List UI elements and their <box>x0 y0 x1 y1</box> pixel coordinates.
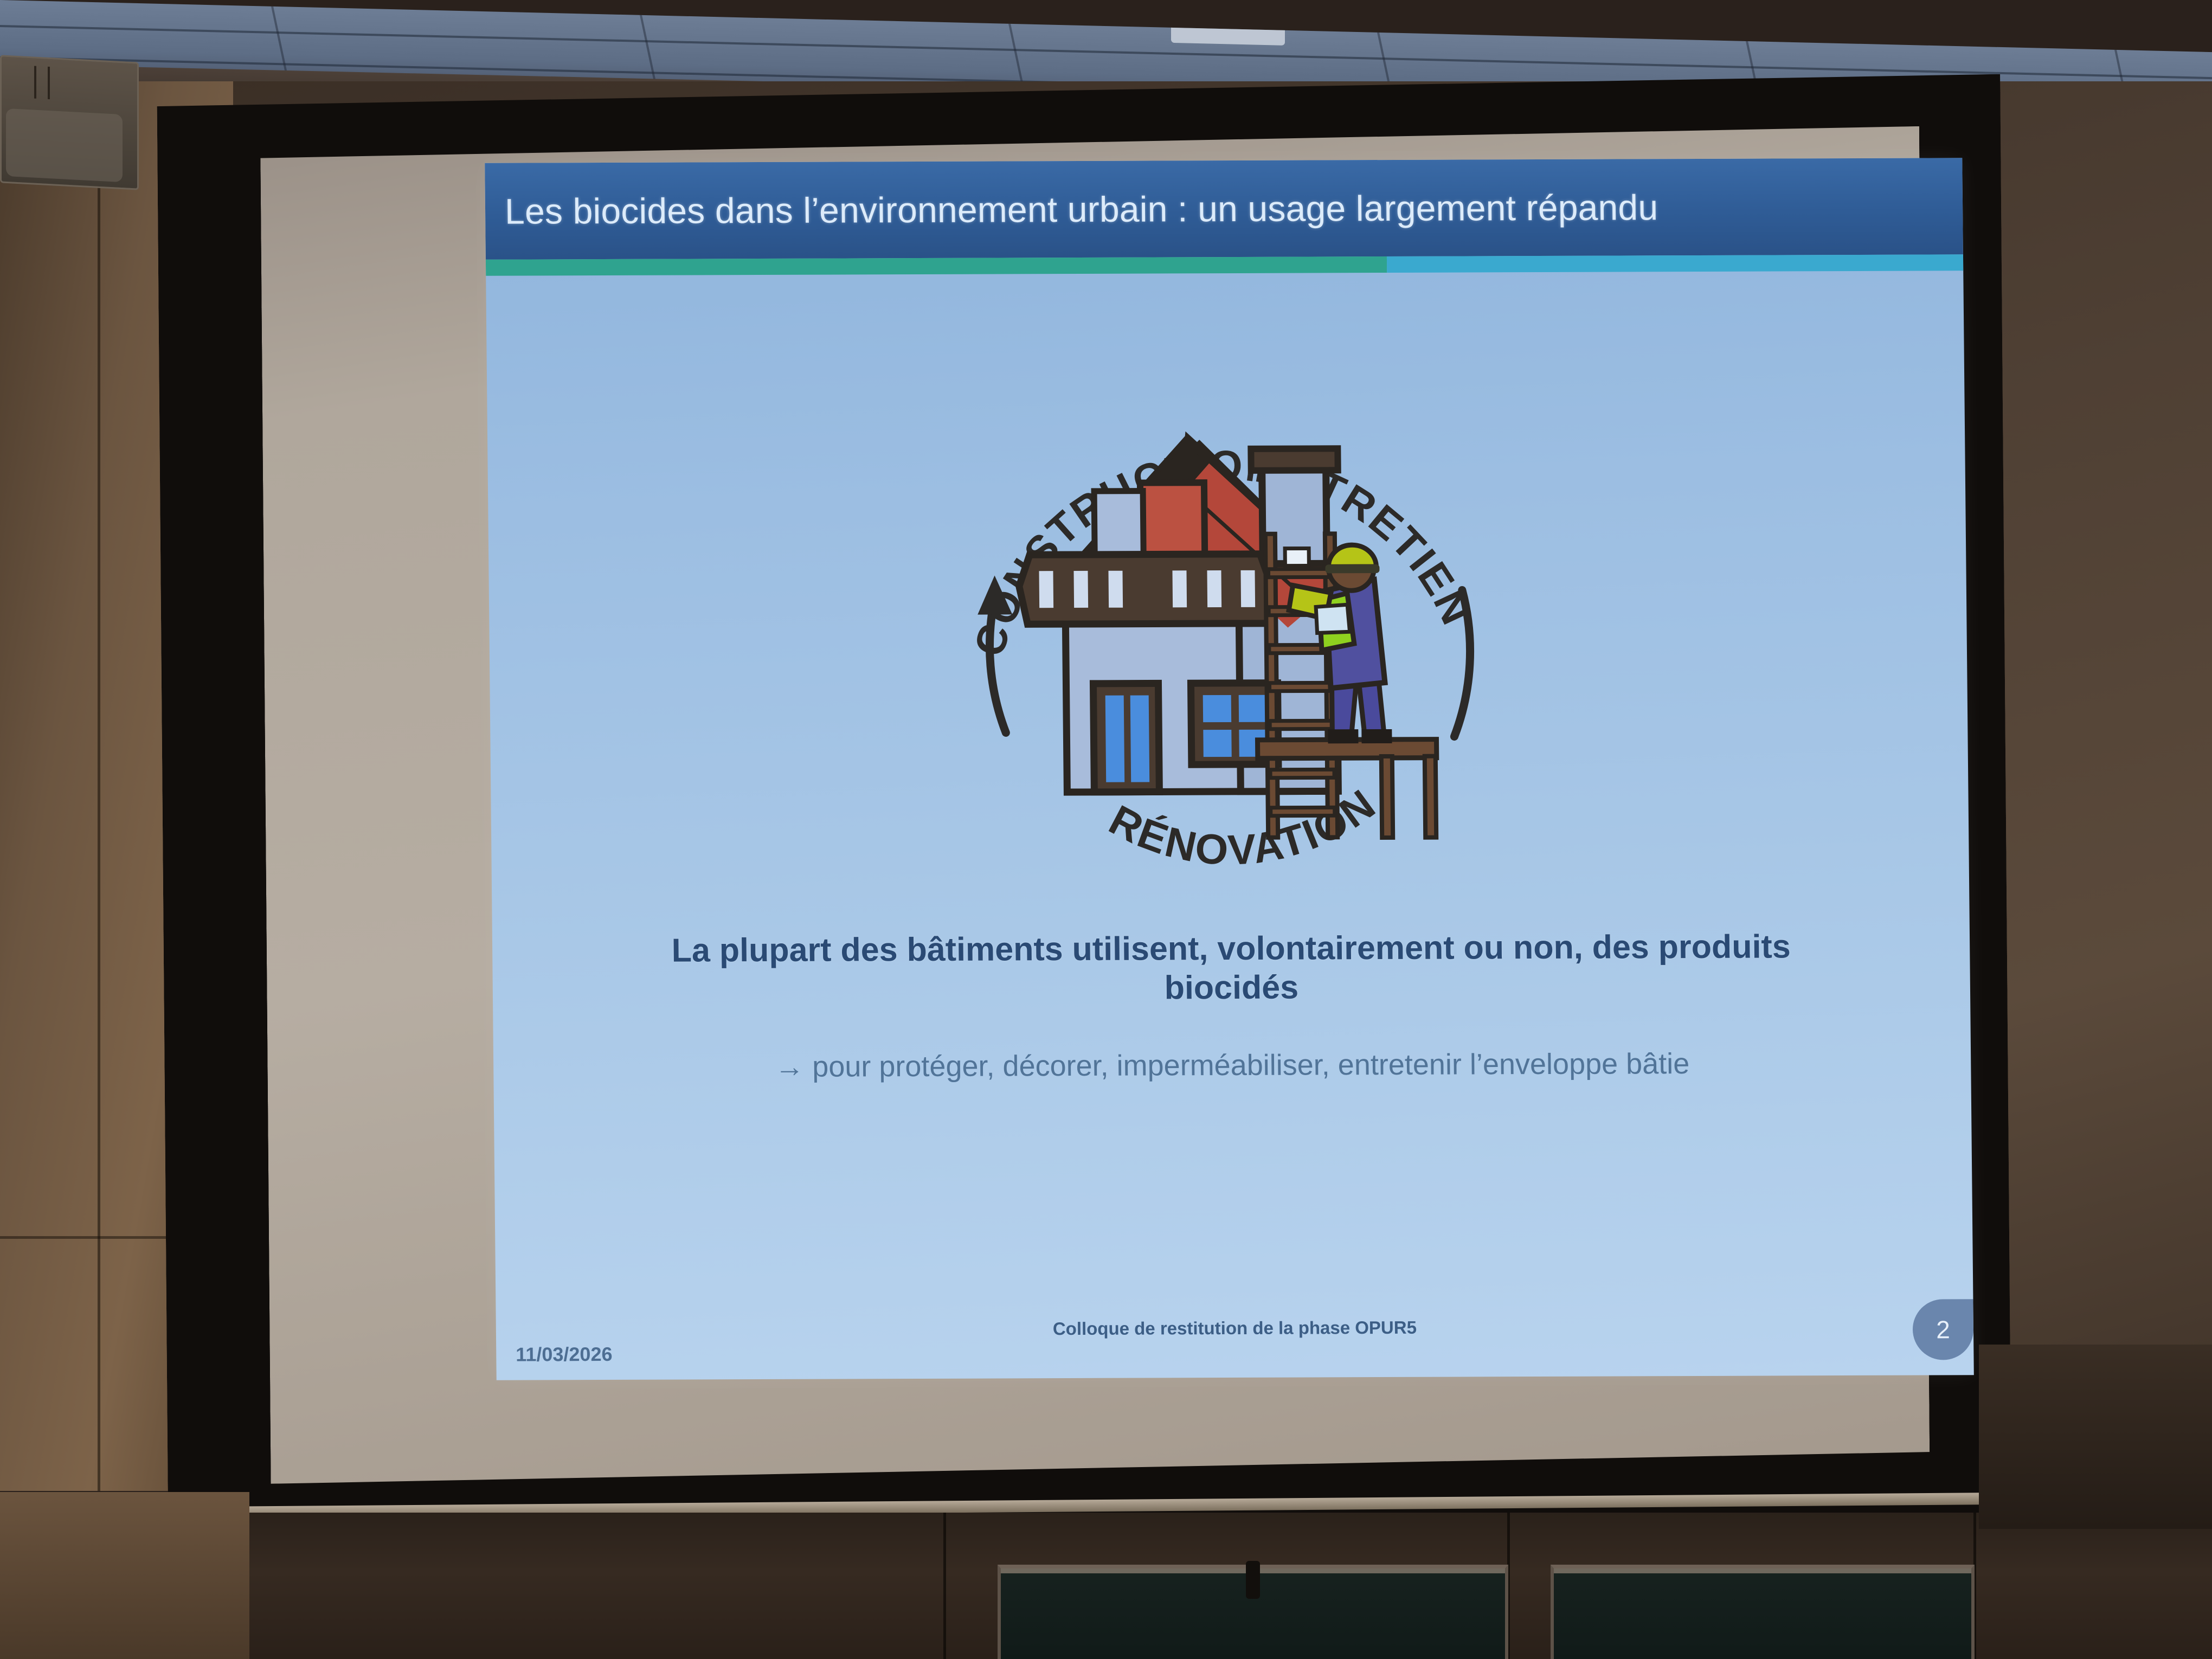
footer-date: 11/03/2026 <box>516 1343 613 1366</box>
left-lower-wood <box>0 1492 249 1659</box>
wall-opening-left <box>998 1565 1508 1659</box>
lower-wall-panelling <box>0 1513 2212 1659</box>
slide-title-bar: Les biocides dans l’environnement urbain… <box>485 158 1963 260</box>
presentation-slide: Les biocides dans l’environnement urbain… <box>485 158 1974 1380</box>
slide-body: CONSTRUCTION ➜ ENTRETIEN RÉNOVATION <box>486 271 1974 1380</box>
statement-line-1: La plupart des bâtiments utilisent, volo… <box>634 927 1828 970</box>
cycle-diagram: CONSTRUCTION ➜ ENTRETIEN RÉNOVATION <box>910 303 1545 934</box>
footer-event-title: Colloque de restitution de la phase OPUR… <box>1053 1317 1417 1339</box>
ceiling-light <box>1171 17 1285 46</box>
page-title: Les biocides dans l’environnement urbain… <box>485 187 1658 232</box>
safety-helmet <box>1328 545 1376 567</box>
slide-number-badge: 2 <box>1912 1299 1973 1360</box>
statement-block: La plupart des bâtiments utilisent, volo… <box>634 927 1828 1009</box>
conference-room: Les biocides dans l’environnement urbain… <box>0 0 2212 1659</box>
ceiling-vent-box <box>0 55 139 190</box>
accent-bar-cyan <box>1387 254 1963 273</box>
right-lower-shadow <box>1979 1345 2212 1529</box>
statement-line-2: biocidés <box>635 966 1828 1009</box>
sub-note: → pour protéger, décorer, imperméabilise… <box>622 1046 1842 1084</box>
wall-opening-right <box>1551 1565 1975 1659</box>
